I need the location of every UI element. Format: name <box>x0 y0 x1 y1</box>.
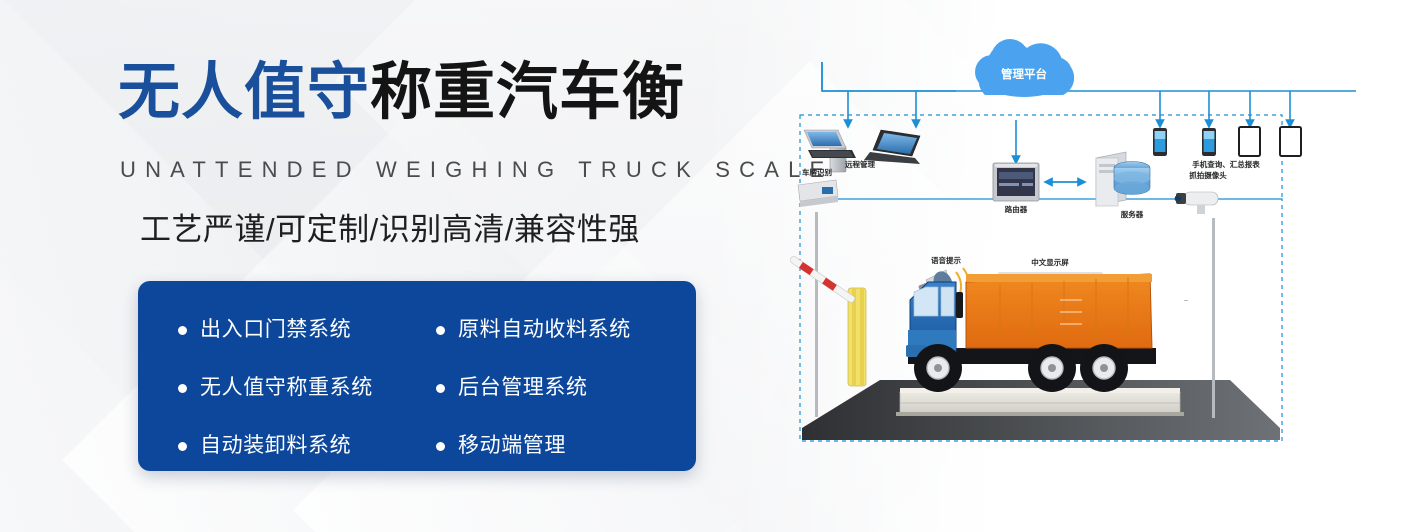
feature-label: 自动装卸料系统 <box>200 434 351 458</box>
router-icon <box>993 163 1039 201</box>
server-label: 服务器 <box>1121 209 1144 219</box>
system-architecture-diagram: 管理平台 远程管理 <box>760 0 1420 532</box>
page-tagline: 工艺严谨/可定制/识别高清/兼容性强 <box>140 211 640 249</box>
page-title-rest: 称重汽车衡 <box>370 58 685 127</box>
list-item[interactable]: 原料自动收料系统 <box>436 318 696 342</box>
smartphone-icon <box>1202 128 1216 156</box>
feature-label: 原料自动收料系统 <box>458 318 631 342</box>
headline-block: 无人值守称重汽车衡 UNATTENDED WEIGHING TRUCK SCAL… <box>0 0 760 532</box>
feature-list-panel: 出入口门禁系统 原料自动收料系统 无人值守称重系统 后台管理系统 自动装卸料系统 <box>138 281 696 471</box>
led-screen-label: 中文显示屏 <box>1031 257 1069 267</box>
list-item[interactable]: 出入口门禁系统 <box>178 318 436 342</box>
feature-label: 后台管理系统 <box>458 376 588 400</box>
bullet-icon <box>178 442 187 451</box>
promo-banner: 无人值守称重汽车衡 UNATTENDED WEIGHING TRUCK SCAL… <box>0 0 1420 532</box>
list-item[interactable]: 自动装卸料系统 <box>178 434 436 458</box>
bullet-icon <box>436 326 445 335</box>
voice-prompt-label: 语音提示 <box>931 255 961 265</box>
list-item[interactable]: 无人值守称重系统 <box>178 376 436 400</box>
list-item[interactable]: 移动端管理 <box>436 434 696 458</box>
weighbridge-platform <box>896 388 1184 416</box>
page-title-highlight: 无人值守 <box>118 58 370 127</box>
router-label: 路由器 <box>1005 204 1028 214</box>
bullet-icon <box>178 384 187 393</box>
plate-recognition-label: 车牌识别 <box>802 167 832 177</box>
smartphone-icon <box>1153 128 1167 156</box>
dump-truck-illustration <box>906 274 1156 392</box>
tablet-icon <box>1280 127 1301 156</box>
bullet-icon <box>436 442 445 451</box>
capture-camera-label: 抓拍摄像头 <box>1189 170 1227 180</box>
bullet-icon <box>436 384 445 393</box>
feature-label: 出入口门禁系统 <box>200 318 351 342</box>
bullet-icon <box>178 326 187 335</box>
page-title: 无人值守称重汽车衡 <box>118 58 685 128</box>
cloud-label: 管理平台 <box>1001 67 1047 81</box>
page-subtitle: UNATTENDED WEIGHING TRUCK SCALE <box>120 157 833 183</box>
tablet-icon <box>1239 127 1260 156</box>
feature-label: 移动端管理 <box>458 434 566 458</box>
feature-grid: 出入口门禁系统 原料自动收料系统 无人值守称重系统 后台管理系统 自动装卸料系统 <box>138 301 696 475</box>
remote-management-label: 远程管理 <box>845 159 875 169</box>
mobile-query-label: 手机查询、汇总报表 <box>1192 159 1260 169</box>
laptop-icon <box>864 130 920 164</box>
server-icon <box>1096 152 1150 206</box>
feature-label: 无人值守称重系统 <box>200 376 373 400</box>
list-item[interactable]: 后台管理系统 <box>436 376 696 400</box>
plate-recognition-camera-icon <box>798 180 838 417</box>
cloud-icon <box>975 39 1074 97</box>
